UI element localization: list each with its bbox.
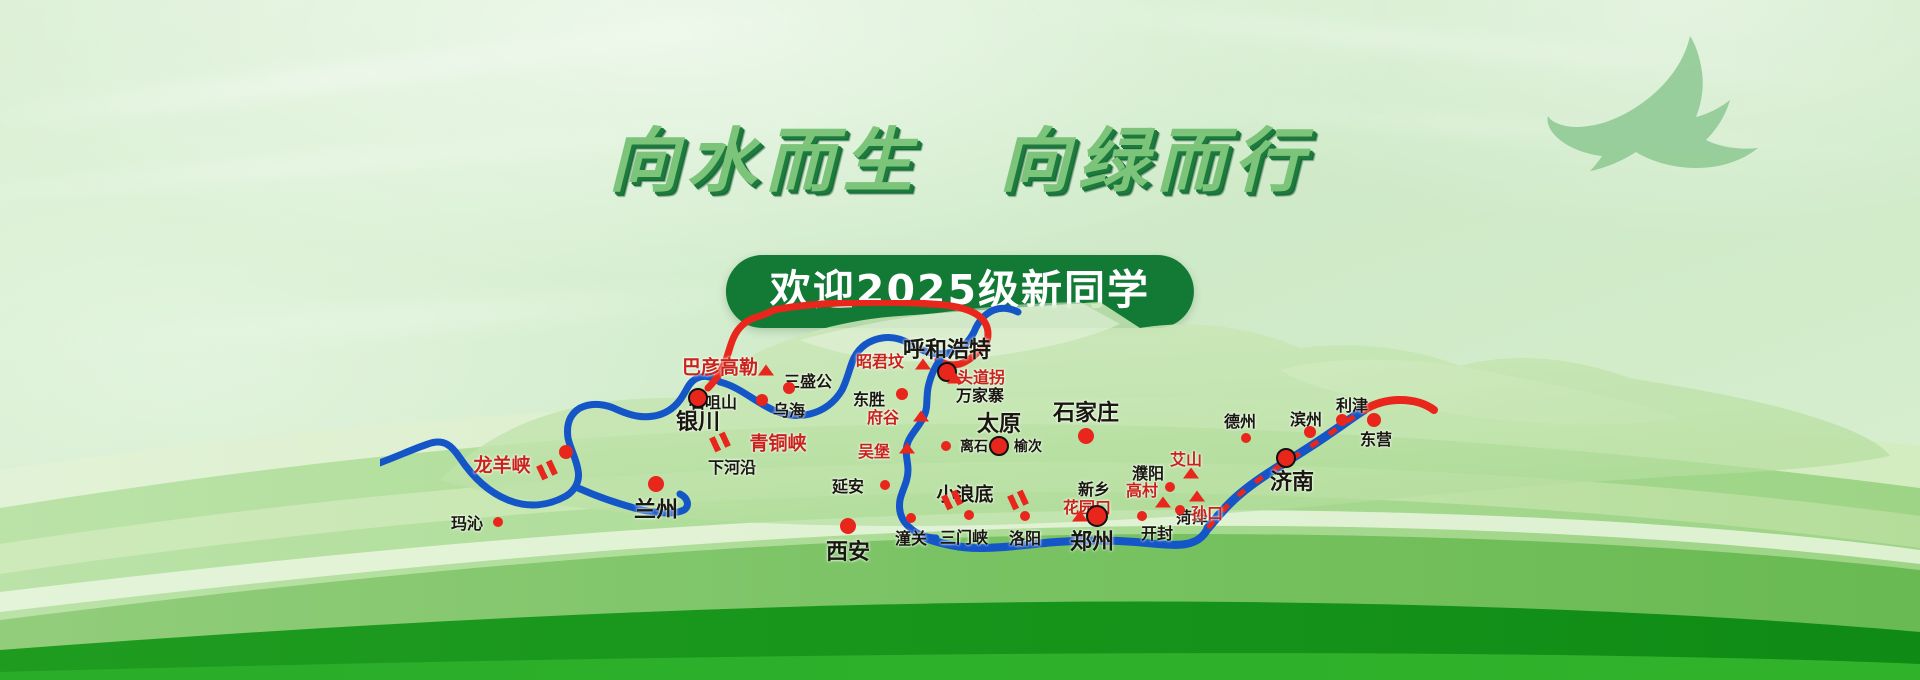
gauging-station-triangle-icon xyxy=(913,411,929,422)
city-marker-dot xyxy=(1175,505,1185,515)
city-marker-dot xyxy=(941,441,951,451)
city-marker-dot xyxy=(1078,428,1094,444)
city-marker-dot xyxy=(1020,511,1030,521)
yellow-river-basin-map: 龙羊峡玛沁兰州下河沿青铜峡银川石咀山乌海三盛公巴彦高勒昭君坟呼和浩特头道拐万家寨… xyxy=(380,300,1920,630)
light-streak xyxy=(1120,92,1919,166)
city-marker-dot xyxy=(756,394,768,406)
headline-line-1: 向水而生 xyxy=(609,122,921,200)
city-marker-dot xyxy=(995,441,1005,451)
welcome-banner: 向水而生 向绿而行 欢迎2025级新同学 xyxy=(0,0,1920,680)
city-marker-dot xyxy=(648,476,664,492)
city-marker-dot xyxy=(1367,413,1381,427)
gauging-station-triangle-icon xyxy=(758,365,774,376)
yellow-river-course xyxy=(380,300,1920,630)
light-streak xyxy=(0,106,859,213)
city-marker-dot xyxy=(1241,433,1251,443)
headline-line-2: 向绿而行 xyxy=(999,122,1311,200)
city-marker-dot xyxy=(1304,426,1316,438)
city-marker-dot xyxy=(493,517,503,527)
city-marker-dot xyxy=(1276,448,1296,468)
gauging-station-triangle-icon xyxy=(1155,497,1171,508)
city-marker-dot xyxy=(1137,511,1147,521)
city-marker-dot xyxy=(1165,482,1175,492)
city-marker-dot xyxy=(964,510,974,520)
city-marker-dot xyxy=(559,445,573,459)
gauging-station-triangle-icon xyxy=(947,373,963,384)
dove-icon xyxy=(1540,28,1770,173)
city-marker-dot xyxy=(783,382,795,394)
city-marker-dot xyxy=(1086,505,1108,527)
gauging-station-triangle-icon xyxy=(1183,468,1199,479)
light-streak xyxy=(0,5,818,140)
city-marker-dot xyxy=(688,388,708,408)
city-marker-dot xyxy=(880,480,890,490)
city-marker-dot xyxy=(1336,414,1348,426)
gauging-station-triangle-icon xyxy=(1072,511,1088,522)
city-marker-dot xyxy=(896,388,908,400)
gauging-station-triangle-icon xyxy=(1189,491,1205,502)
city-marker-dot xyxy=(840,518,856,534)
gauging-station-triangle-icon xyxy=(899,443,915,454)
gauging-station-triangle-icon xyxy=(915,359,931,370)
city-marker-dot xyxy=(906,513,916,523)
